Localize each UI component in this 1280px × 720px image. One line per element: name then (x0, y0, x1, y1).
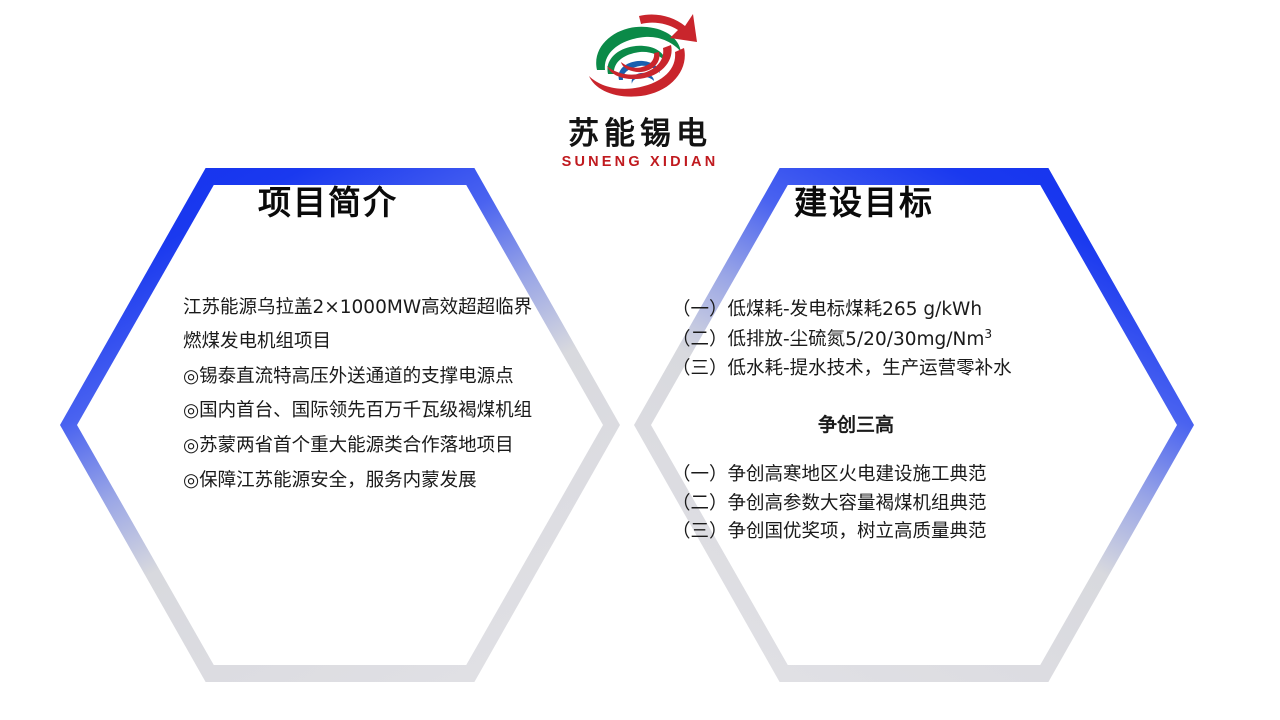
sub-heading-three-highs: 争创三高 (672, 410, 1092, 437)
list-item: ◎国内首台、国际领先百万千瓦级褐煤机组 (183, 394, 613, 429)
goal-item: （二）低排放-尘硫氮5/20/30mg/Nm3 (672, 325, 1092, 355)
project-lead-line-2: 燃煤发电机组项目 (183, 326, 613, 358)
panel-left-body: 江苏能源乌拉盖2×1000MW高效超超临界 燃煤发电机组项目 ◎锡泰直流特高压外… (183, 292, 613, 499)
logo-company-name-cn: 苏能锡电 (0, 118, 1280, 151)
list-item: ◎苏蒙两省首个重大能源类合作落地项目 (183, 429, 613, 464)
company-logo-block: 苏能锡电 SUNENG XIDIAN (0, 8, 1280, 170)
aim-item: （一）争创高寒地区火电建设施工典范 (672, 461, 1092, 490)
suneng-swirl-logo-icon (575, 8, 705, 116)
list-item: ◎锡泰直流特高压外送通道的支撑电源点 (183, 360, 613, 395)
panel-right-body: （一）低煤耗-发电标煤耗265 g/kWh （二）低排放-尘硫氮5/20/30m… (672, 296, 1092, 547)
goal-superscript: 3 (984, 327, 992, 341)
aim-item: （二）争创高参数大容量褐煤机组典范 (672, 490, 1092, 519)
goal-item-text: （二）低排放-尘硫氮5/20/30mg/Nm (672, 329, 984, 350)
goal-item: （三）低水耗-提水技术，生产运营零补水 (672, 355, 1092, 384)
aim-item: （三）争创国优奖项，树立高质量典范 (672, 518, 1092, 547)
goal-item: （一）低煤耗-发电标煤耗265 g/kWh (672, 296, 1092, 325)
panel-left-title: 项目简介 (48, 176, 608, 224)
panel-right-title: 建设目标 (584, 176, 1144, 224)
project-lead-line-1: 江苏能源乌拉盖2×1000MW高效超超临界 (183, 292, 613, 324)
list-item: ◎保障江苏能源安全，服务内蒙发展 (183, 464, 613, 499)
